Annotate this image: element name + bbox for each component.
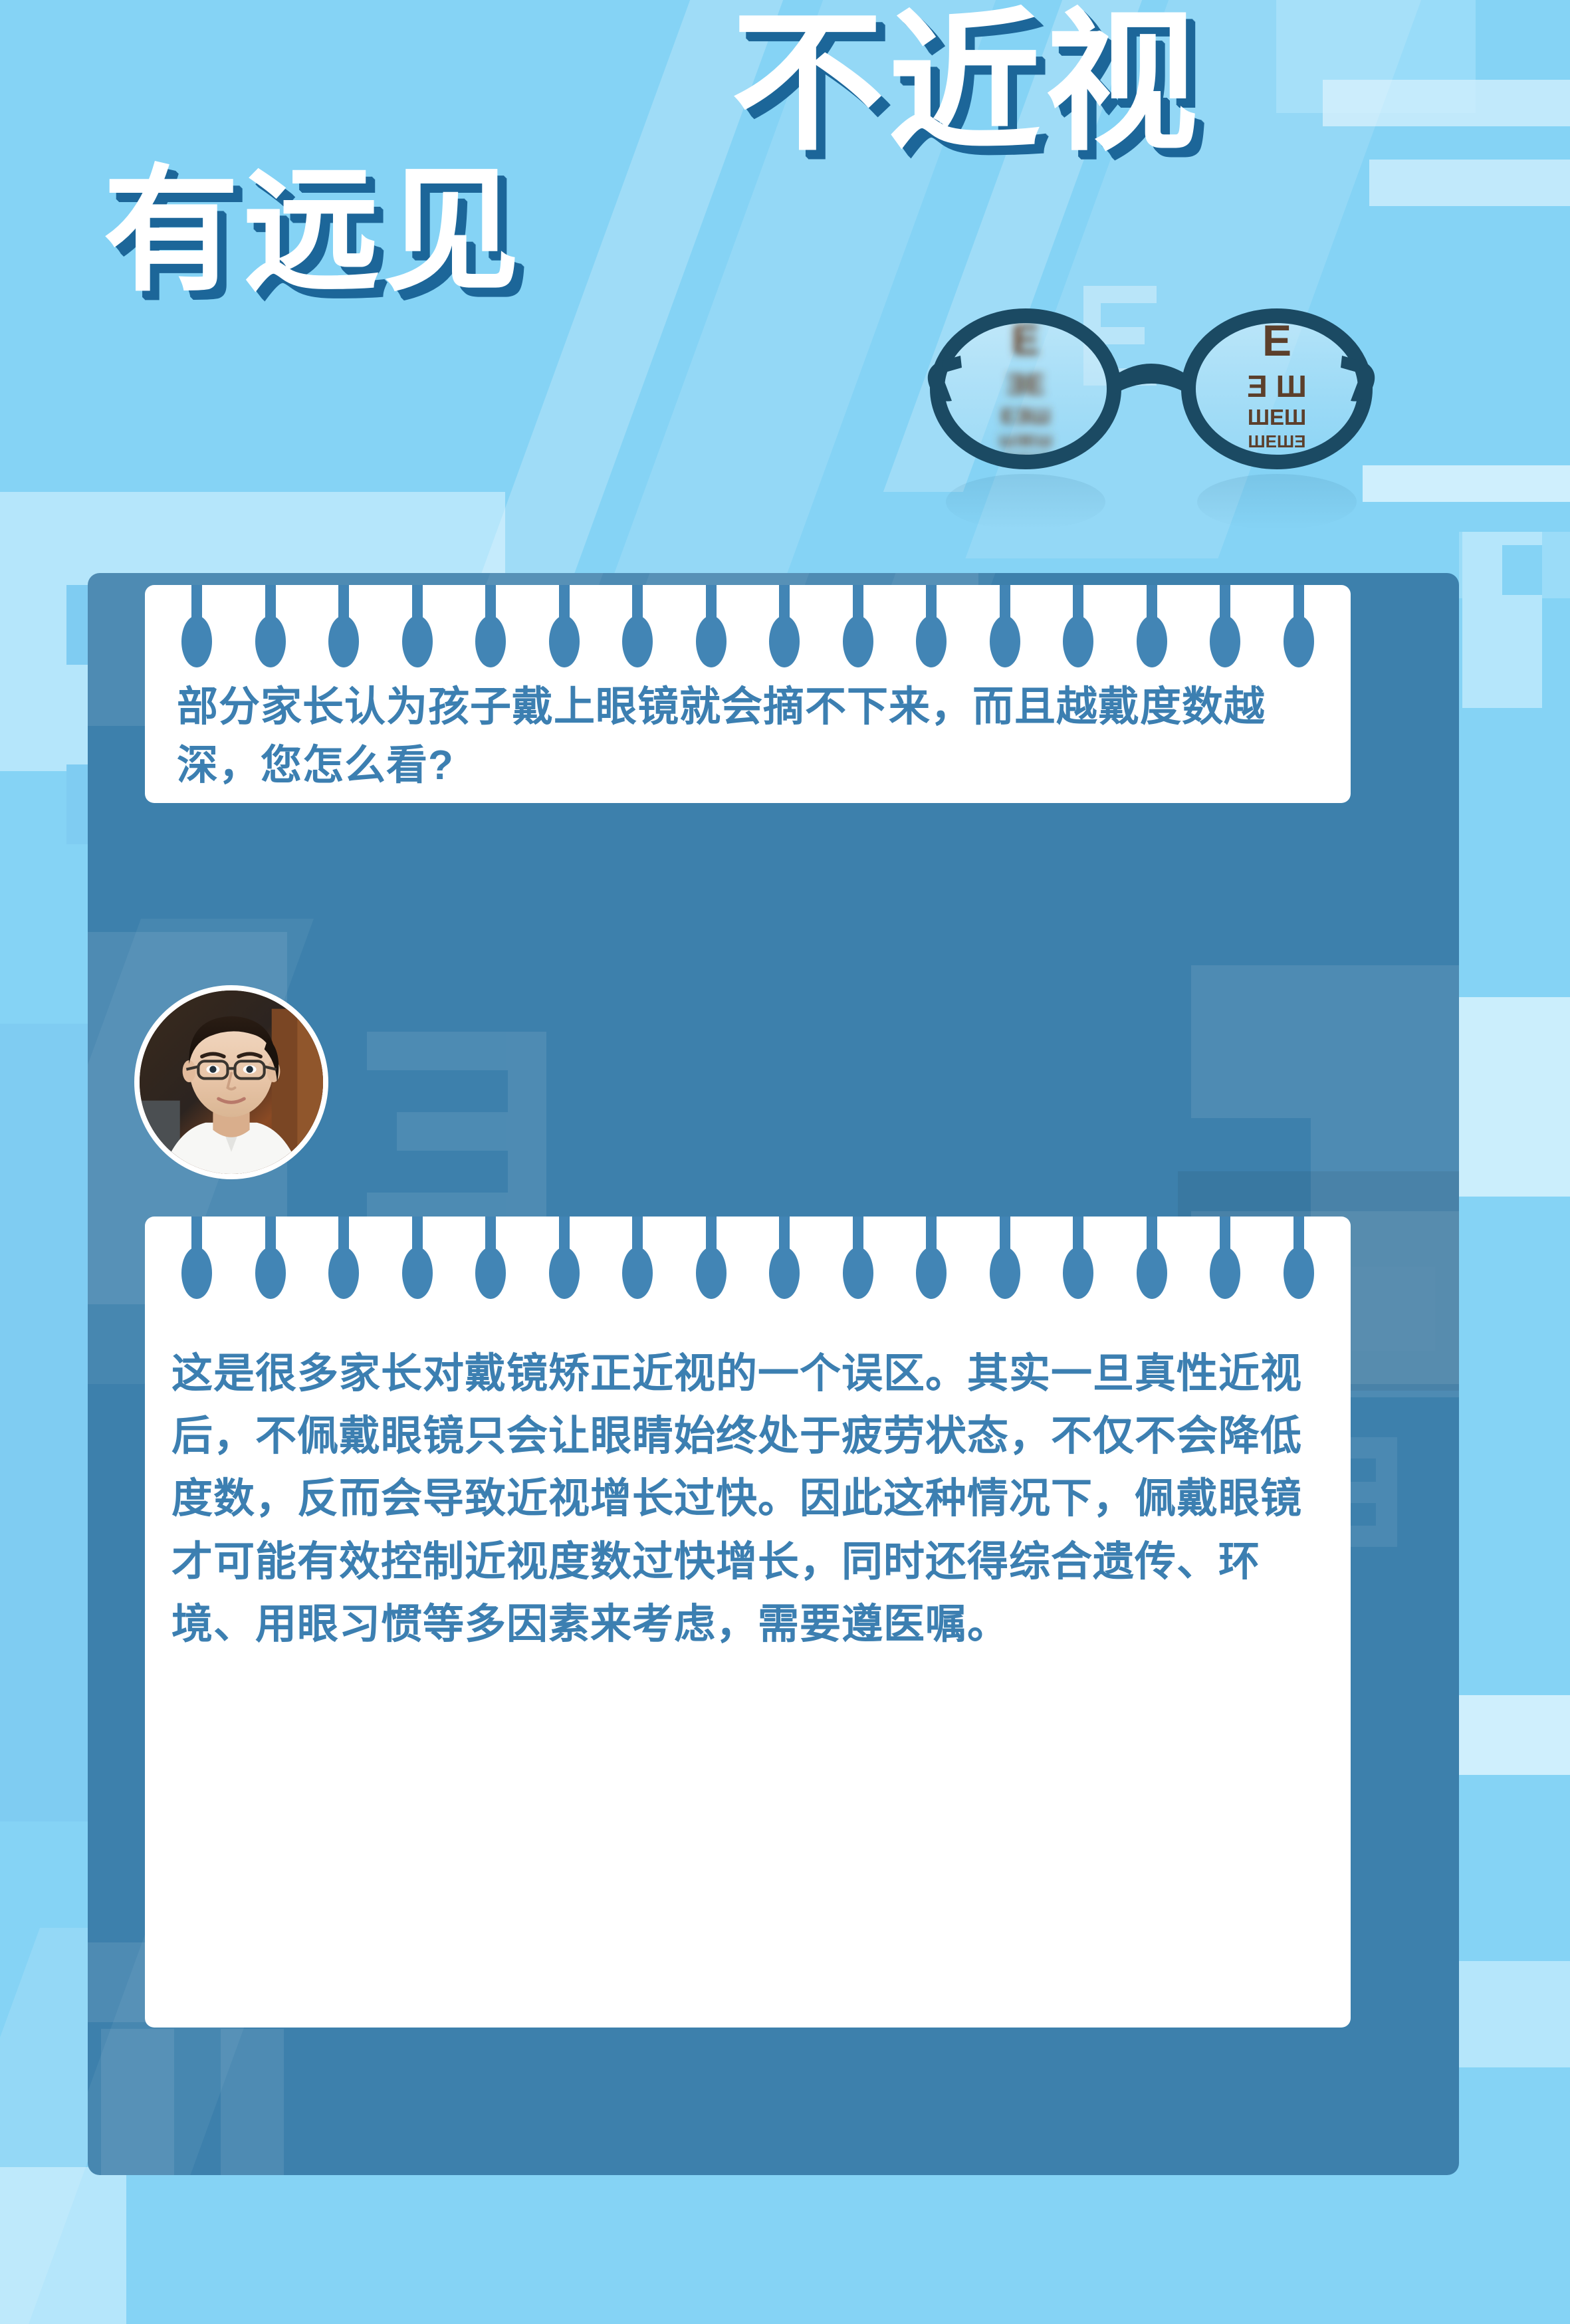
bg-block — [0, 1024, 100, 1821]
spiral-ring — [485, 1217, 496, 1264]
bg-block — [1502, 545, 1542, 595]
bg-block — [1459, 1695, 1570, 1775]
svg-text:ШƎEШ: ШƎEШ — [999, 432, 1052, 450]
spiral-ring — [485, 585, 496, 633]
svg-text:ШEШ: ШEШ — [1248, 405, 1306, 429]
spiral-ring — [559, 1217, 570, 1264]
spiral-ring — [338, 1217, 349, 1264]
card-deco-block — [1191, 965, 1459, 1118]
answer-text: 这是很多家长对戴镜矫正近视的一个误区。其实一旦真性近视后，不佩戴眼镜只会让眼睛始… — [171, 1343, 1328, 1656]
spiral-ring — [632, 1217, 643, 1264]
bg-block — [1459, 1961, 1570, 2067]
spiral-ring — [706, 1217, 717, 1264]
eye-chart-e-watermark — [367, 1032, 546, 1231]
spiral-ring — [853, 585, 863, 633]
svg-text:Ǝ Ш: Ǝ Ш — [1247, 369, 1307, 404]
spiral-ring — [191, 1217, 202, 1264]
avatar — [134, 985, 328, 1179]
spiral-ring — [926, 585, 937, 633]
spiral-ring — [1073, 1217, 1083, 1264]
spiral-ring — [1000, 1217, 1010, 1264]
spiral-ring — [412, 585, 423, 633]
spiral-ring — [412, 1217, 423, 1264]
svg-text:ЕƎШ: ЕƎШ — [1001, 404, 1051, 428]
svg-text:ƎE: ƎE — [1006, 368, 1046, 401]
spiral-ring — [779, 1217, 790, 1264]
spiral-binding — [145, 585, 1351, 678]
spiral-ring — [926, 1217, 937, 1264]
spiral-ring — [632, 585, 643, 633]
spiral-ring — [1220, 1217, 1230, 1264]
spiral-ring — [1293, 585, 1304, 633]
spiral-ring — [1293, 1217, 1304, 1264]
spiral-ring — [559, 585, 570, 633]
eyeglasses-icon: E ƎE ЕƎШ ШƎEШ ƎШEШƎ E Ǝ Ш ШEШ ШЕШƎ ƎШЕШШ… — [901, 283, 1406, 548]
bg-block — [1459, 997, 1570, 1197]
spiral-ring — [1000, 585, 1010, 633]
question-card: 部分家长认为孩子戴上眼镜就会摘不下来，而且越戴度数越深，您怎么看? — [145, 585, 1351, 803]
spiral-binding — [145, 1217, 1351, 1310]
spiral-ring — [1147, 1217, 1157, 1264]
page-title-sub: 有远见 — [103, 163, 524, 299]
main-content-card: 部分家长认为孩子戴上眼镜就会摘不下来，而且越戴度数越深，您怎么看? 这是很多家长… — [88, 573, 1459, 2175]
page-title-main: 不近视 — [731, 7, 1202, 160]
spiral-ring — [1220, 585, 1230, 633]
spiral-ring — [706, 585, 717, 633]
spiral-ring — [265, 585, 276, 633]
svg-text:ШЕШƎ: ШЕШƎ — [1248, 431, 1306, 451]
bg-block — [1459, 708, 1570, 907]
spiral-ring — [191, 585, 202, 633]
spiral-ring — [779, 585, 790, 633]
question-text: 部分家长认为孩子戴上眼镜就会摘不下来，而且越戴度数越深，您怎么看? — [177, 678, 1327, 795]
spiral-ring — [853, 1217, 863, 1264]
spiral-ring — [1147, 585, 1157, 633]
answer-card: 这是很多家长对戴镜矫正近视的一个误区。其实一旦真性近视后，不佩戴眼镜只会让眼睛始… — [145, 1217, 1351, 2028]
spiral-ring — [338, 585, 349, 633]
spiral-ring — [1073, 585, 1083, 633]
spiral-ring — [265, 1217, 276, 1264]
